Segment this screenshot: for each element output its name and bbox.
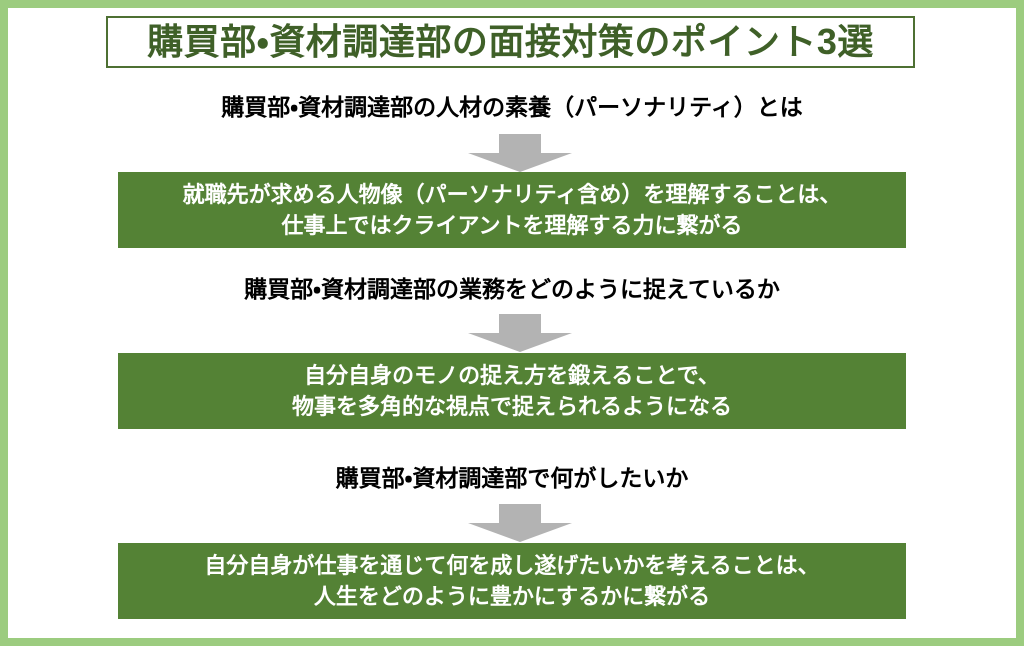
title-box: 購買部・資材調達部の面接対策のポイント3選 xyxy=(106,16,915,68)
section-heading-1: 購買部・資材調達部の人材の素養（パーソナリティ）とは xyxy=(8,94,1016,122)
infographic-canvas: 購買部・資材調達部の面接対策のポイント3選 購買部・資材調達部の人材の素養（パー… xyxy=(8,8,1016,638)
arrow-down-icon xyxy=(468,314,572,352)
statement-line: 物事を多角的な視点で捉えられるようになる xyxy=(292,391,732,422)
infographic-root: 購買部・資材調達部の面接対策のポイント3選 購買部・資材調達部の人材の素養（パー… xyxy=(0,0,1024,646)
arrow-down-icon xyxy=(468,504,572,542)
statement-box-2: 自分自身のモノの捉え方を鍛えることで、 物事を多角的な視点で捉えられるようになる xyxy=(118,353,906,429)
arrow-down-icon xyxy=(468,134,572,172)
page-title: 購買部・資材調達部の面接対策のポイント3選 xyxy=(147,24,874,60)
statement-line: 就職先が求める人物像（パーソナリティ含め）を理解することは、 xyxy=(183,179,842,210)
statement-line: 人生をどのように豊かにするかに繋がる xyxy=(314,581,710,612)
statement-box-1: 就職先が求める人物像（パーソナリティ含め）を理解することは、 仕事上ではクライア… xyxy=(118,172,906,248)
statement-line: 自分自身が仕事を通じて何を成し遂げたいかを考えることは、 xyxy=(204,550,819,581)
section-heading-2: 購買部・資材調達部の業務をどのように捉えているか xyxy=(8,276,1016,304)
statement-line: 自分自身のモノの捉え方を鍛えることで、 xyxy=(304,360,720,391)
section-heading-3: 購買部・資材調達部で何がしたいか xyxy=(8,465,1016,493)
statement-box-3: 自分自身が仕事を通じて何を成し遂げたいかを考えることは、 人生をどのように豊かに… xyxy=(118,543,906,619)
statement-line: 仕事上ではクライアントを理解する力に繋がる xyxy=(281,210,742,241)
